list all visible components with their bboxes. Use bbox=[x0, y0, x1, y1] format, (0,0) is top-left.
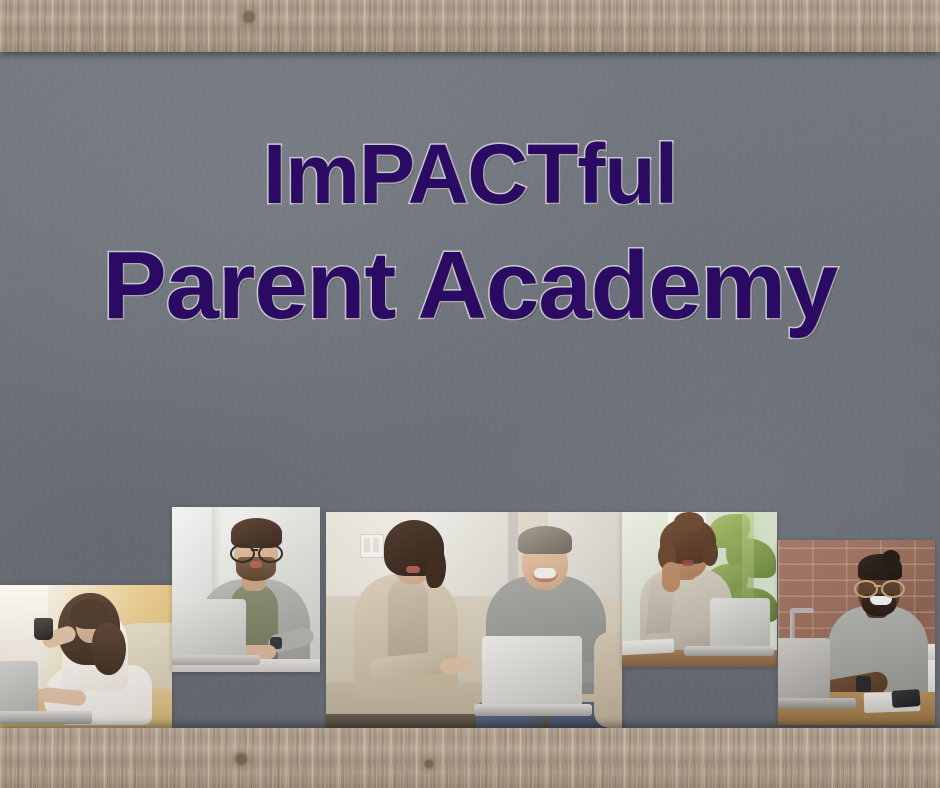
wood-frame-bottom bbox=[0, 728, 940, 788]
wood-frame-top bbox=[0, 0, 940, 52]
photo-3-desaturate bbox=[326, 512, 622, 748]
photo-1-desaturate bbox=[0, 585, 172, 728]
wood-knot-top bbox=[236, 2, 262, 32]
poster-canvas: ImPACTful Parent Academy bbox=[0, 0, 940, 788]
page-title: ImPACTful Parent Academy bbox=[0, 132, 940, 334]
wood-knot-bottom-2 bbox=[418, 754, 440, 774]
title-line-primary: ImPACTful bbox=[0, 132, 940, 216]
wood-knot-bottom bbox=[226, 746, 256, 772]
photo-4-backing-panel bbox=[622, 667, 777, 727]
photo-2-backing-panel bbox=[172, 672, 320, 727]
wood-grain-bottom bbox=[0, 728, 940, 788]
title-line-secondary: Parent Academy bbox=[0, 238, 940, 334]
photo-4-desaturate bbox=[622, 512, 777, 667]
collage-photo-man-with-glasses bbox=[172, 507, 320, 672]
collage-photo-couple-on-sofa bbox=[326, 512, 622, 748]
collage-photo-woman-with-mug bbox=[0, 585, 172, 728]
photo-5-desaturate bbox=[778, 540, 935, 725]
collage-photo-woman-curly-hair bbox=[622, 512, 777, 667]
photo-2-desaturate bbox=[172, 507, 320, 672]
collage-photo-man-in-kitchen bbox=[778, 540, 935, 725]
wood-grain-top bbox=[0, 0, 940, 52]
